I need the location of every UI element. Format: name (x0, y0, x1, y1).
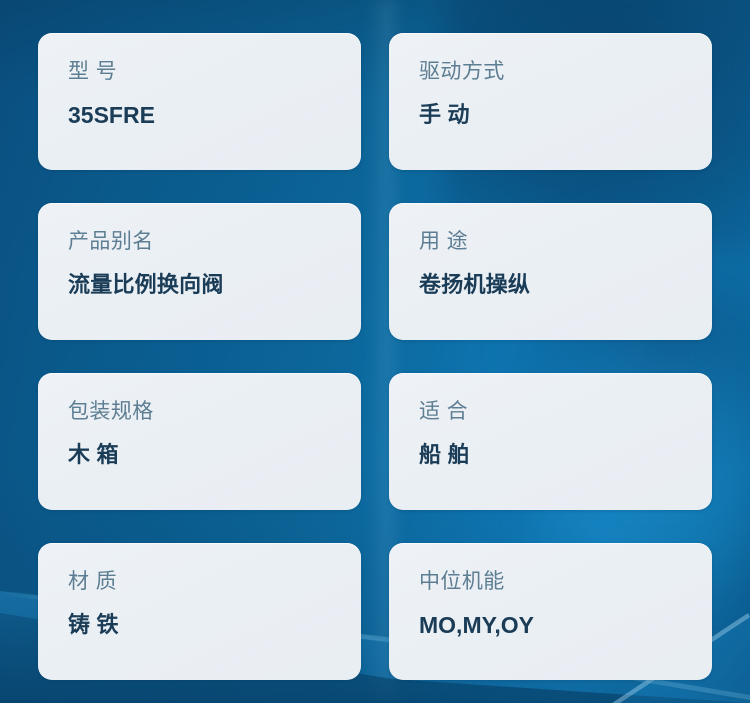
spec-card-label: 包装规格 (68, 401, 331, 422)
spec-card-product-alias: 产品别名流量比例换向阀 (38, 203, 361, 340)
spec-card-label: 型 号 (68, 61, 331, 82)
spec-card-suitable-for: 适 合船 舶 (389, 373, 712, 510)
spec-card-label: 产品别名 (68, 231, 331, 252)
spec-card-label: 用 途 (419, 231, 682, 252)
spec-card-value: 手 动 (419, 104, 682, 126)
spec-card-value: 船 舶 (419, 444, 682, 466)
spec-card-label: 中位机能 (419, 571, 682, 592)
spec-card-value: 流量比例换向阀 (68, 274, 331, 296)
spec-card-packing-spec: 包装规格木 箱 (38, 373, 361, 510)
spec-card-usage: 用 途卷扬机操纵 (389, 203, 712, 340)
spec-card-model: 型 号35SFRE (38, 33, 361, 170)
spec-card-label: 材 质 (68, 571, 331, 592)
spec-card-value: MO,MY,OY (419, 614, 682, 637)
spec-card-value: 铸 铁 (68, 614, 331, 636)
spec-card-value: 木 箱 (68, 444, 331, 466)
spec-card-value: 35SFRE (68, 104, 331, 127)
spec-card-drive-mode: 驱动方式手 动 (389, 33, 712, 170)
spec-card-value: 卷扬机操纵 (419, 274, 682, 296)
spec-card-grid: 型 号35SFRE驱动方式手 动产品别名流量比例换向阀用 途卷扬机操纵包装规格木… (38, 33, 712, 680)
spec-card-label: 驱动方式 (419, 61, 682, 82)
spec-card-label: 适 合 (419, 401, 682, 422)
spec-card-material: 材 质铸 铁 (38, 543, 361, 680)
spec-card-center-function: 中位机能MO,MY,OY (389, 543, 712, 680)
